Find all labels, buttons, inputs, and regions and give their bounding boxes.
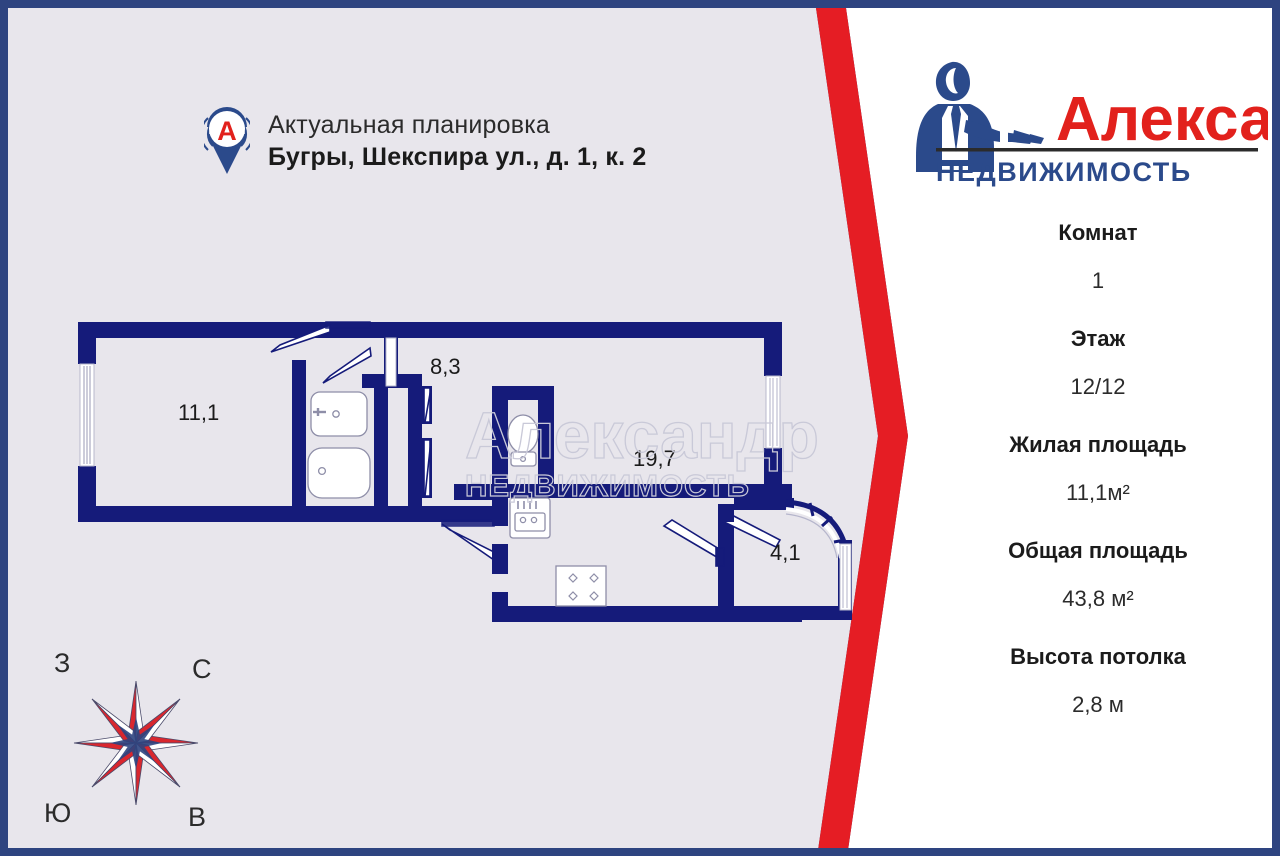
compass-label-west: З xyxy=(54,648,70,679)
door-swing-kitchen xyxy=(664,520,724,566)
property-info-panel: Комнат 1 Этаж 12/12 Жилая площадь 11,1м²… xyxy=(938,220,1258,718)
area-label-balcony: 4,1 xyxy=(770,540,801,565)
area-label-living: 11,1 xyxy=(178,400,219,425)
info-key-rooms: Комнат xyxy=(938,220,1258,246)
info-value-total-area: 43,8 м² xyxy=(938,586,1258,612)
stove-4-burner xyxy=(556,566,606,606)
header-text-block: Актуальная планировка Бугры, Шекспира ул… xyxy=(268,111,647,172)
compass-rose: З С Ю В xyxy=(40,640,256,840)
info-key-floor: Этаж xyxy=(938,326,1258,352)
area-label-main-room: 19,7 xyxy=(633,446,676,471)
agent-figure-icon xyxy=(916,62,1044,172)
plan-subtitle: Актуальная планировка xyxy=(268,111,647,140)
info-key-total-area: Общая площадь xyxy=(938,538,1258,564)
bathtub xyxy=(308,448,370,498)
info-key-ceiling: Высота потолка xyxy=(938,644,1258,670)
area-label-hallway: 8,3 xyxy=(430,354,461,379)
compass-rose-icon xyxy=(66,678,206,808)
logo-brand-name: Александр xyxy=(1056,85,1268,154)
poster-frame: A Актуальная планировка Бугры, Шекспира … xyxy=(0,0,1280,856)
floor-plan: 11,1 8,3 19,7 4,1 xyxy=(68,308,868,628)
info-value-living-area: 11,1м² xyxy=(938,480,1258,506)
info-key-living-area: Жилая площадь xyxy=(938,432,1258,458)
info-value-ceiling: 2,8 м xyxy=(938,692,1258,718)
pin-letter: A xyxy=(217,116,237,146)
kitchen-sink xyxy=(510,498,550,538)
plan-address: Бугры, Шекспира ул., д. 1, к. 2 xyxy=(268,143,647,172)
info-value-floor: 12/12 xyxy=(938,374,1258,400)
location-pin-icon: A xyxy=(204,104,250,178)
toilet xyxy=(508,415,538,466)
sink-bathroom xyxy=(311,392,367,436)
logo-brand-sub: НЕДВИЖИМОСТЬ xyxy=(936,157,1192,187)
info-value-rooms: 1 xyxy=(938,268,1258,294)
hallway-door-jamb xyxy=(386,338,396,386)
header: A Актуальная планировка Бугры, Шекспира … xyxy=(204,104,647,178)
company-logo: Александр НЕДВИЖИМОСТЬ xyxy=(908,52,1268,196)
